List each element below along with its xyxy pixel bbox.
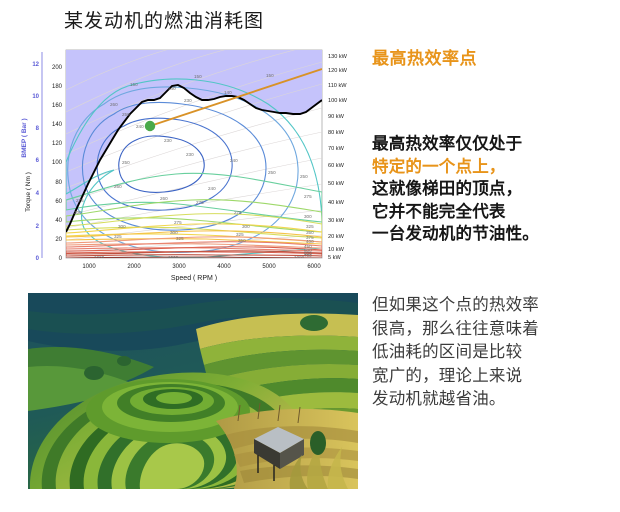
svg-text:300: 300 (304, 214, 312, 219)
svg-text:120 kW: 120 kW (328, 68, 348, 74)
svg-text:325: 325 (176, 236, 184, 241)
plain-paragraph: 但如果这个点的热效率 很高，那么往往意味着 低油耗的区间是比较 宽广的，理论上来… (372, 293, 618, 411)
bmep-axis-title: BMEP ( Bar ) (21, 118, 28, 157)
svg-text:60: 60 (55, 199, 62, 205)
svg-text:4: 4 (36, 191, 40, 197)
bold-line-1: 最高热效率仅仅处于 (372, 133, 618, 156)
svg-text:5000: 5000 (262, 264, 276, 270)
svg-text:150: 150 (130, 82, 138, 87)
svg-text:120: 120 (52, 141, 63, 147)
svg-text:300: 300 (170, 230, 178, 235)
svg-text:300: 300 (74, 210, 82, 215)
svg-text:0: 0 (36, 256, 40, 262)
svg-text:30 kW: 30 kW (328, 218, 345, 224)
power-axis: 130 kW 120 kW 110 kW 100 kW 90 kW 80 kW … (328, 54, 348, 261)
bold-line-5: 一台发动机的节油性。 (372, 223, 618, 246)
svg-text:275: 275 (304, 194, 312, 199)
svg-text:12: 12 (32, 62, 39, 68)
svg-text:140: 140 (52, 122, 63, 128)
svg-text:250: 250 (300, 174, 308, 179)
svg-text:1000: 1000 (294, 255, 305, 260)
svg-text:325: 325 (306, 224, 314, 229)
svg-text:60 kW: 60 kW (328, 163, 345, 169)
svg-text:5 kW: 5 kW (328, 255, 341, 261)
bold-line-2-highlight: 特定的一个点上， (372, 156, 618, 179)
svg-text:700: 700 (304, 253, 312, 258)
page-title: 某发动机的燃油消耗图 (64, 6, 264, 33)
plain-line-1: 但如果这个点的热效率 (372, 293, 618, 317)
svg-text:90 kW: 90 kW (328, 114, 345, 120)
plain-line-4: 宽广的，理论上来说 (372, 364, 618, 388)
plain-line-2: 很高，那么往往意味着 (372, 317, 618, 341)
svg-text:275: 275 (76, 198, 84, 203)
svg-text:2: 2 (36, 224, 40, 230)
chart-svg: 230 240 250 260 150 150 150 140 140 230 … (18, 42, 370, 290)
svg-text:3000: 3000 (172, 264, 186, 270)
svg-text:150: 150 (266, 73, 274, 78)
svg-text:6000: 6000 (307, 264, 321, 270)
terrace-photo-svg (28, 293, 358, 489)
svg-text:1000: 1000 (82, 264, 96, 270)
svg-text:275: 275 (196, 200, 204, 205)
bsfc-map-chart: 230 240 250 260 150 150 150 140 140 230 … (18, 42, 370, 290)
terrace-field-photo (28, 293, 358, 489)
svg-text:40: 40 (55, 218, 62, 224)
svg-text:240: 240 (208, 186, 216, 191)
svg-text:240: 240 (136, 124, 144, 129)
svg-text:150: 150 (194, 74, 202, 79)
svg-text:230: 230 (164, 138, 172, 143)
svg-text:180: 180 (52, 84, 63, 90)
svg-text:130 kW: 130 kW (328, 54, 348, 60)
svg-text:80 kW: 80 kW (328, 130, 345, 136)
bmep-axis: 0 2 4 6 8 10 12 (32, 62, 39, 262)
svg-text:250: 250 (122, 112, 130, 117)
svg-text:260: 260 (160, 196, 168, 201)
svg-text:100 kW: 100 kW (328, 98, 348, 104)
svg-text:2000: 2000 (127, 264, 141, 270)
svg-text:240: 240 (230, 158, 238, 163)
svg-text:300: 300 (242, 224, 250, 229)
svg-text:1000: 1000 (168, 255, 179, 260)
svg-text:350: 350 (238, 238, 246, 243)
svg-text:230: 230 (186, 152, 194, 157)
svg-text:325: 325 (236, 232, 244, 237)
svg-text:275: 275 (234, 210, 242, 215)
bold-paragraph: 最高热效率仅仅处于 特定的一个点上， 这就像梯田的顶点， 它并不能完全代表 一台… (372, 133, 618, 246)
svg-text:110 kW: 110 kW (328, 83, 347, 89)
plain-line-5: 发动机就越省油。 (372, 387, 618, 411)
torque-axis-title: Torque ( Nm ) (25, 172, 32, 212)
optimum-point-marker (145, 121, 155, 131)
speed-axis-title: Speed ( RPM ) (171, 275, 217, 282)
svg-text:140: 140 (168, 86, 176, 91)
svg-text:250: 250 (114, 184, 122, 189)
svg-text:300: 300 (118, 224, 126, 229)
svg-text:160: 160 (52, 103, 63, 109)
svg-text:8: 8 (36, 126, 40, 132)
svg-text:0: 0 (59, 256, 63, 262)
speed-axis: 1000 2000 3000 4000 5000 6000 (82, 264, 321, 270)
svg-text:20 kW: 20 kW (328, 234, 345, 240)
svg-text:260: 260 (110, 102, 118, 107)
svg-text:80: 80 (55, 180, 62, 186)
svg-text:6: 6 (36, 158, 40, 164)
bold-line-3: 这就像梯田的顶点， (372, 178, 618, 201)
max-efficiency-callout: 最高热效率点 (372, 44, 477, 69)
svg-text:50 kW: 50 kW (328, 181, 345, 187)
svg-text:10: 10 (32, 94, 39, 100)
svg-text:230: 230 (184, 98, 192, 103)
svg-text:275: 275 (174, 220, 182, 225)
svg-text:40 kW: 40 kW (328, 200, 345, 206)
bold-line-4: 它并不能完全代表 (372, 201, 618, 224)
svg-text:140: 140 (224, 90, 232, 95)
torque-axis: 0 20 40 60 80 100 120 140 160 180 200 (52, 65, 63, 262)
svg-text:200: 200 (52, 65, 63, 71)
slide-root: 某发动机的燃油消耗图 (0, 0, 620, 512)
svg-text:250: 250 (268, 170, 276, 175)
svg-text:20: 20 (55, 237, 62, 243)
svg-text:10 kW: 10 kW (328, 247, 345, 253)
svg-text:70 kW: 70 kW (328, 146, 345, 152)
svg-text:250: 250 (122, 160, 130, 165)
svg-text:100: 100 (52, 160, 63, 166)
svg-text:1000: 1000 (94, 255, 105, 260)
plain-line-3: 低油耗的区间是比较 (372, 340, 618, 364)
svg-text:325: 325 (114, 234, 122, 239)
svg-text:4000: 4000 (217, 264, 231, 270)
